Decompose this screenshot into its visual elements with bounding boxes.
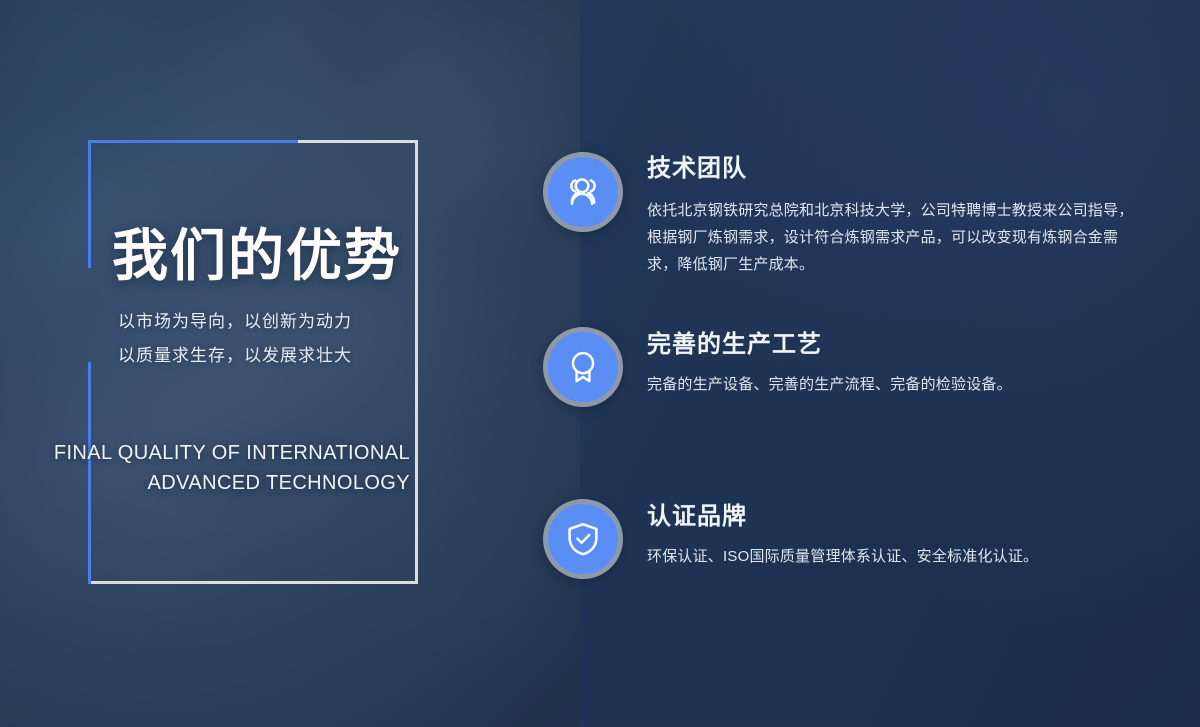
tagline-line-1: 以市场为导向，以创新为动力 (118, 305, 408, 339)
award-medal-icon (543, 327, 623, 407)
feature-body: 完善的生产工艺 完备的生产设备、完善的生产流程、完备的检验设备。 (647, 331, 1137, 398)
feature-body: 认证品牌 环保认证、ISO国际质量管理体系认证、安全标准化认证。 (647, 503, 1137, 570)
english-line-1: FINAL QUALITY OF INTERNATIONAL (20, 438, 410, 468)
tagline-block: 以市场为导向，以创新为动力 以质量求生存，以发展求壮大 (118, 305, 408, 373)
feature-title: 完善的生产工艺 (647, 331, 1137, 360)
feature-description: 依托北京钢铁研究总院和北京科技大学，公司特聘博士教授来公司指导，根据钢厂炼钢需求… (647, 197, 1137, 278)
users-team-icon (543, 152, 623, 232)
tagline-line-2: 以质量求生存，以发展求壮大 (118, 339, 408, 373)
page-title: 我们的优势 (112, 228, 412, 284)
feature-description: 环保认证、ISO国际质量管理体系认证、安全标准化认证。 (647, 543, 1137, 570)
feature-body: 技术团队 依托北京钢铁研究总院和北京科技大学，公司特聘博士教授来公司指导，根据钢… (647, 155, 1137, 278)
shield-check-icon (543, 499, 623, 579)
english-line-2: ADVANCED TECHNOLOGY (20, 468, 410, 498)
feature-description: 完备的生产设备、完善的生产流程、完备的检验设备。 (647, 371, 1137, 398)
slide-stage: 我们的优势 以市场为导向，以创新为动力 以质量求生存，以发展求壮大 FINAL … (0, 0, 1200, 727)
feature-title: 技术团队 (647, 155, 1137, 184)
english-subtitle-block: FINAL QUALITY OF INTERNATIONAL ADVANCED … (20, 438, 410, 498)
left-text-content: 我们的优势 以市场为导向，以创新为动力 以质量求生存，以发展求壮大 FINAL … (0, 0, 580, 727)
feature-title: 认证品牌 (647, 503, 1137, 532)
